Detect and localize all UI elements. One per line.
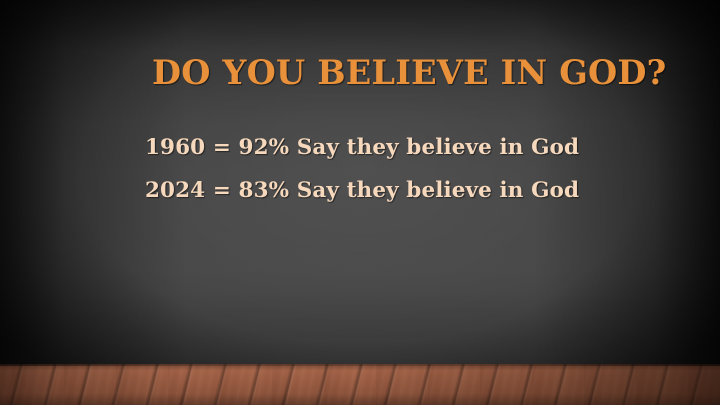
presentation-slide: DO YOU BELIEVE IN GOD? 1960 = 92% Say th… [0,0,720,405]
slide-title: DO YOU BELIEVE IN GOD? [152,55,572,91]
body-line-2024: 2024 = 83% Say they believe in God [145,169,605,212]
slide-body-list: 1960 = 92% Say they believe in God 2024 … [145,126,605,212]
slide-content: DO YOU BELIEVE IN GOD? 1960 = 92% Say th… [0,0,720,405]
body-line-1960: 1960 = 92% Say they believe in God [145,126,605,169]
